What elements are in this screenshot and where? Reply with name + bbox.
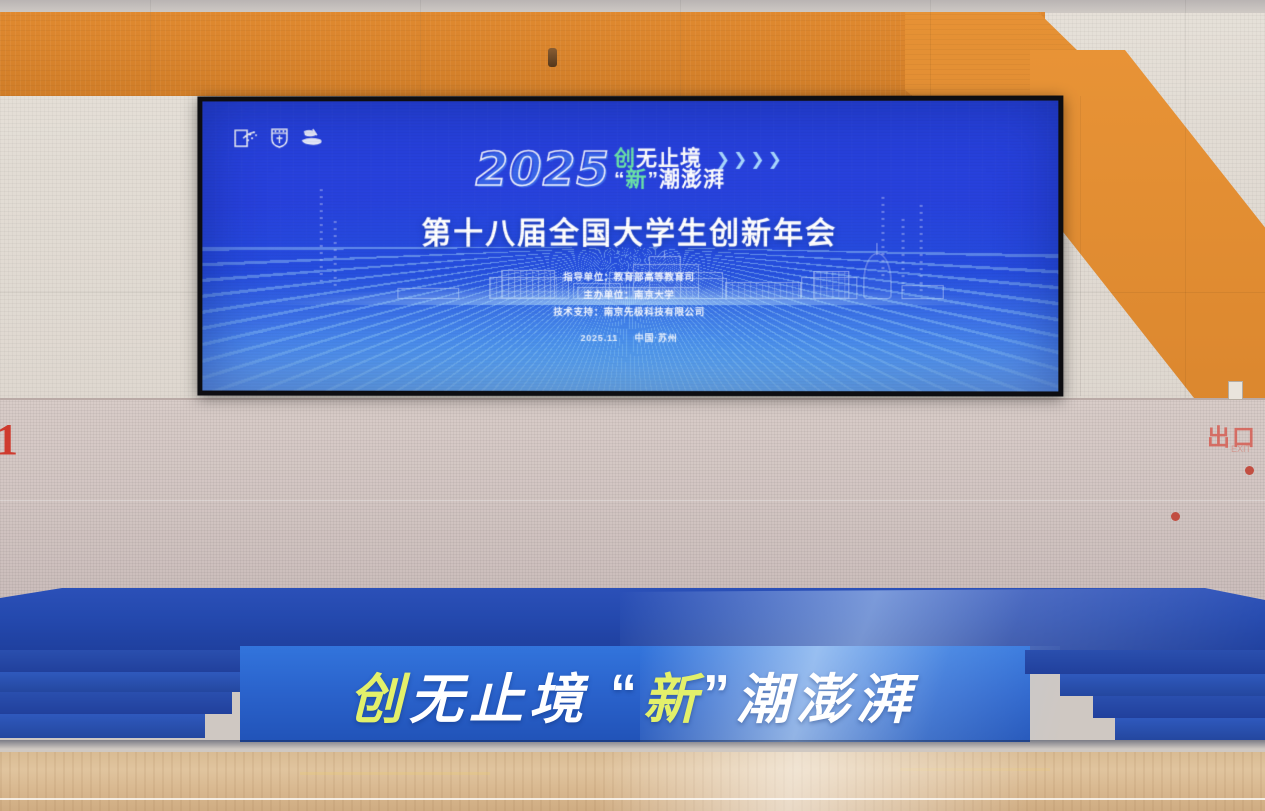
exit-sign-sub: EXIT — [1231, 444, 1251, 454]
chevron-right-icon: ❯ — [733, 150, 748, 167]
screen-title-block: 2025 创无止境 ❯ ❯ ❯ ❯ “新”潮澎湃 — [202, 137, 1058, 344]
stage-top-light-reflection — [620, 588, 1265, 650]
slogan-rest-1: 无止境 — [636, 147, 702, 170]
banner-char-green-1: 创 — [349, 655, 409, 734]
wall-outlet — [1228, 381, 1243, 400]
wall-marker-dot — [1171, 512, 1180, 521]
stage-platform: 创无止境 “新”潮澎湃 — [0, 588, 1265, 763]
slogan-green-char-1: 创 — [614, 147, 636, 170]
floor-sunlight-glare — [600, 752, 1030, 811]
credit-line: 指导单位：教育部高等教育司 — [202, 269, 1058, 287]
wainscot-seam — [0, 500, 1265, 501]
stage-ground-shadow — [0, 740, 1265, 749]
event-date: 2025.11 — [580, 333, 618, 343]
slogan-line-2: “新”潮澎湃 — [614, 169, 725, 190]
credit-line: 技术支持：南京先极科技有限公司 — [202, 304, 1058, 322]
wall-marker-dot — [1245, 466, 1254, 475]
court-line-yellow — [300, 772, 490, 775]
banner-text-2: 无止境 — [409, 655, 589, 734]
banner-char-green-2: 新 — [643, 655, 703, 734]
date-city-line: 2025.11 中国·苏州 — [202, 330, 1058, 344]
slogan-stack: 创无止境 ❯ ❯ ❯ ❯ “新”潮澎湃 — [614, 147, 783, 190]
chevron-right-icon: ❯ — [768, 150, 783, 167]
banner-text-4: 潮澎湃 — [736, 655, 916, 734]
conference-main-title: 第十八届全国大学生创新年会 — [202, 208, 1058, 252]
year-text: 2025 — [475, 146, 610, 193]
orange-horizontal-band — [0, 12, 1045, 96]
title-row-year-slogan: 2025 创无止境 ❯ ❯ ❯ ❯ “新”潮澎湃 — [202, 137, 1058, 201]
banner-quote-close: ” — [703, 663, 736, 725]
event-city: 中国·苏州 — [635, 333, 678, 343]
credit-line: 主办单位：南京大学 — [202, 286, 1058, 304]
stage-banner-text: 创无止境 “新”潮澎湃 — [0, 650, 1265, 738]
slogan-green-char-2: 新 — [625, 168, 647, 191]
chevron-right-icon: ❯ — [716, 150, 731, 167]
quote-close: ” — [647, 168, 659, 191]
wall-seam — [150, 0, 151, 96]
wall-seam — [1080, 96, 1081, 396]
quote-open: “ — [614, 168, 625, 191]
wall-seam — [420, 0, 421, 96]
gymnasium-conference-scene: 出口 EXIT 1 — [0, 0, 1265, 811]
banner-quote-open: “ — [610, 663, 643, 725]
wall-seam — [930, 0, 931, 96]
wall-seam — [1185, 0, 1186, 400]
ceiling-fixture-icon — [548, 48, 557, 67]
lower-wall-wainscot — [0, 398, 1265, 600]
chevron-right-icon: ❯ — [750, 150, 765, 167]
wall-seam — [680, 0, 681, 96]
slogan-rest-2: 潮澎湃 — [659, 168, 725, 191]
credits-block: 指导单位：教育部高等教育司 主办单位：南京大学 技术支持：南京先极科技有限公司 — [202, 269, 1058, 322]
led-screen-content: 2025 创无止境 ❯ ❯ ❯ ❯ “新”潮澎湃 — [202, 101, 1058, 392]
slogan-line-1: 创无止境 ❯ ❯ ❯ ❯ — [614, 147, 783, 169]
chevron-arrows: ❯ ❯ ❯ ❯ — [716, 150, 783, 167]
wall-left-marking: 1 — [0, 414, 18, 465]
led-screen-frame: 2025 创无止境 ❯ ❯ ❯ ❯ “新”潮澎湃 — [197, 96, 1063, 397]
